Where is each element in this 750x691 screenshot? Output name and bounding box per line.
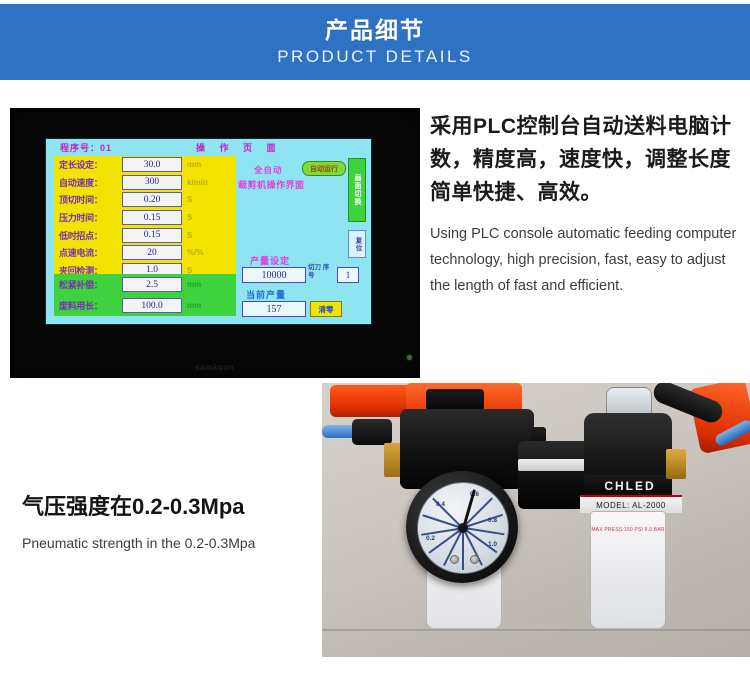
pneumatic-unit-photo: CHLED MODEL: AL-2000 MAX PRESS 150 PSI 9…: [322, 383, 750, 657]
regulator-cap-icon: [426, 389, 484, 411]
banner-title-en: PRODUCT DETAILS: [277, 46, 473, 68]
reset-tab[interactable]: 复位: [348, 230, 366, 258]
mounting-bracket-icon: [518, 459, 592, 471]
screen-header-bar: 程序号：01 操 作 页 面: [46, 139, 371, 156]
photo-surface-line: [322, 629, 750, 631]
current-output-field[interactable]: 157: [242, 301, 306, 317]
fitting-left-icon: [352, 419, 392, 445]
gauge-screw-icon: [470, 555, 479, 564]
hmi-panel-photo: 程序号：01 操 作 页 面 定长设定： 30.0 mm 自动速度： 300 k…: [10, 108, 420, 378]
param-unit: mm: [187, 301, 201, 310]
param-label: 自动速度：: [59, 176, 122, 189]
param-row[interactable]: 自动速度： 300 k/min: [54, 174, 236, 192]
gauge-tick-label: 0.2: [426, 535, 435, 542]
param-label: 点速电流：: [59, 246, 122, 259]
screen-page-title: 操 作 页 面: [196, 141, 282, 154]
panel-title: 全自动: [254, 164, 283, 176]
brass-fitting-right-icon: [666, 449, 686, 479]
filter-bowl-right-icon: MAX PRESS 150 PSI 9.9 BAR: [590, 511, 666, 629]
param-value[interactable]: 0.15: [122, 228, 182, 243]
hmi-brand-logo: samkoon: [195, 363, 234, 372]
banner-title-cn: 产品细节: [325, 17, 425, 44]
screen-side-panel: 全自动 裁剪机操作界面 自动运行 画面切换 复位 产量设定 10000 切刀 序…: [236, 156, 371, 324]
feature-bottom-en: Pneumatic strength in the 0.2-0.3Mpa: [22, 533, 322, 553]
clear-counter-button[interactable]: 清零: [310, 301, 342, 317]
current-output-label: 当前产量: [246, 288, 286, 301]
product-details-page: 产品细节 PRODUCT DETAILS 程序号：01 操 作 页 面 定长设定…: [0, 0, 750, 691]
cutter-index-field[interactable]: 1: [337, 267, 359, 283]
param-value[interactable]: 0.15: [122, 210, 182, 225]
gauge-tick-label: 0.4: [436, 501, 445, 508]
param-value[interactable]: 0.20: [122, 192, 182, 207]
param-unit: k/min: [187, 178, 208, 187]
param-label: 低时招点：: [59, 229, 122, 242]
panel-subtitle: 裁剪机操作界面: [238, 178, 305, 191]
param-unit: S: [187, 195, 192, 204]
param-unit: mm: [187, 160, 201, 169]
gauge-tick-label: 0.8: [488, 517, 497, 524]
target-output-label: 产量设定: [250, 254, 290, 267]
param-row[interactable]: 定长设定： 30.0 mm: [54, 156, 236, 174]
page-banner: 产品细节 PRODUCT DETAILS: [0, 4, 750, 80]
gauge-hub-icon: [458, 523, 468, 533]
parameter-panel-green-section: 松紧补偿： 2.5 mm 废料用长： 100.0 mm: [54, 274, 236, 316]
gauge-face: 0.2 0.4 0.6 0.8 1.0: [417, 482, 509, 574]
gauge-tick-label: 1.0: [488, 541, 497, 548]
param-label: 顶切时间：: [59, 193, 122, 206]
param-row[interactable]: 点速电流： 20 %/%: [54, 244, 236, 262]
param-value[interactable]: 2.5: [122, 277, 182, 292]
feature-text-top: 采用PLC控制台自动送料电脑计数，精度高，速度快，调整长度简单快捷、高效。 Us…: [430, 110, 742, 299]
page-switch-tab[interactable]: 画面切换: [348, 158, 366, 222]
feature-top-cn: 采用PLC控制台自动送料电脑计数，精度高，速度快，调整长度简单快捷、高效。: [430, 110, 742, 209]
param-unit: mm: [187, 280, 201, 289]
parameter-panel: 定长设定： 30.0 mm 自动速度： 300 k/min 顶切时间： 0.20…: [54, 156, 236, 316]
param-unit: %/%: [187, 248, 203, 257]
target-output-field[interactable]: 10000: [242, 267, 306, 283]
param-value[interactable]: 100.0: [122, 298, 182, 313]
param-label: 压力时间：: [59, 211, 122, 224]
gauge-screw-icon: [450, 555, 459, 564]
param-label: 废料用长：: [59, 299, 122, 312]
param-row[interactable]: 废料用长： 100.0 mm: [54, 295, 236, 316]
param-row[interactable]: 压力时间： 0.15 S: [54, 209, 236, 227]
param-unit: S: [187, 213, 192, 222]
auto-run-button[interactable]: 自动运行: [302, 161, 346, 176]
feature-top-en: Using PLC console automatic feeding comp…: [430, 221, 742, 299]
param-row[interactable]: 低时招点： 0.15 S: [54, 226, 236, 244]
screen-program-number: 程序号：01: [60, 141, 112, 154]
param-value[interactable]: 300: [122, 175, 182, 190]
param-label: 定长设定：: [59, 158, 122, 171]
brand-label: CHLED: [590, 479, 670, 493]
hmi-screen: 程序号：01 操 作 页 面 定长设定： 30.0 mm 自动速度： 300 k…: [45, 138, 372, 325]
feature-text-bottom: 气压强度在0.2-0.3Mpa Pneumatic strength in th…: [22, 492, 322, 553]
param-value[interactable]: 30.0: [122, 157, 182, 172]
bowl-warning-text: MAX PRESS 150 PSI 9.9 BAR: [591, 526, 665, 534]
pressure-gauge-icon: 0.2 0.4 0.6 0.8 1.0: [406, 471, 518, 583]
param-row[interactable]: 松紧补偿： 2.5 mm: [54, 274, 236, 295]
feature-bottom-cn: 气压强度在0.2-0.3Mpa: [22, 492, 322, 522]
param-row[interactable]: 顶切时间： 0.20 S: [54, 191, 236, 209]
param-label: 松紧补偿：: [59, 278, 122, 291]
param-unit: S: [187, 231, 192, 240]
power-led-icon: [407, 355, 412, 360]
param-value[interactable]: 20: [122, 245, 182, 260]
cutter-index-label: 切刀 序号: [308, 264, 334, 280]
